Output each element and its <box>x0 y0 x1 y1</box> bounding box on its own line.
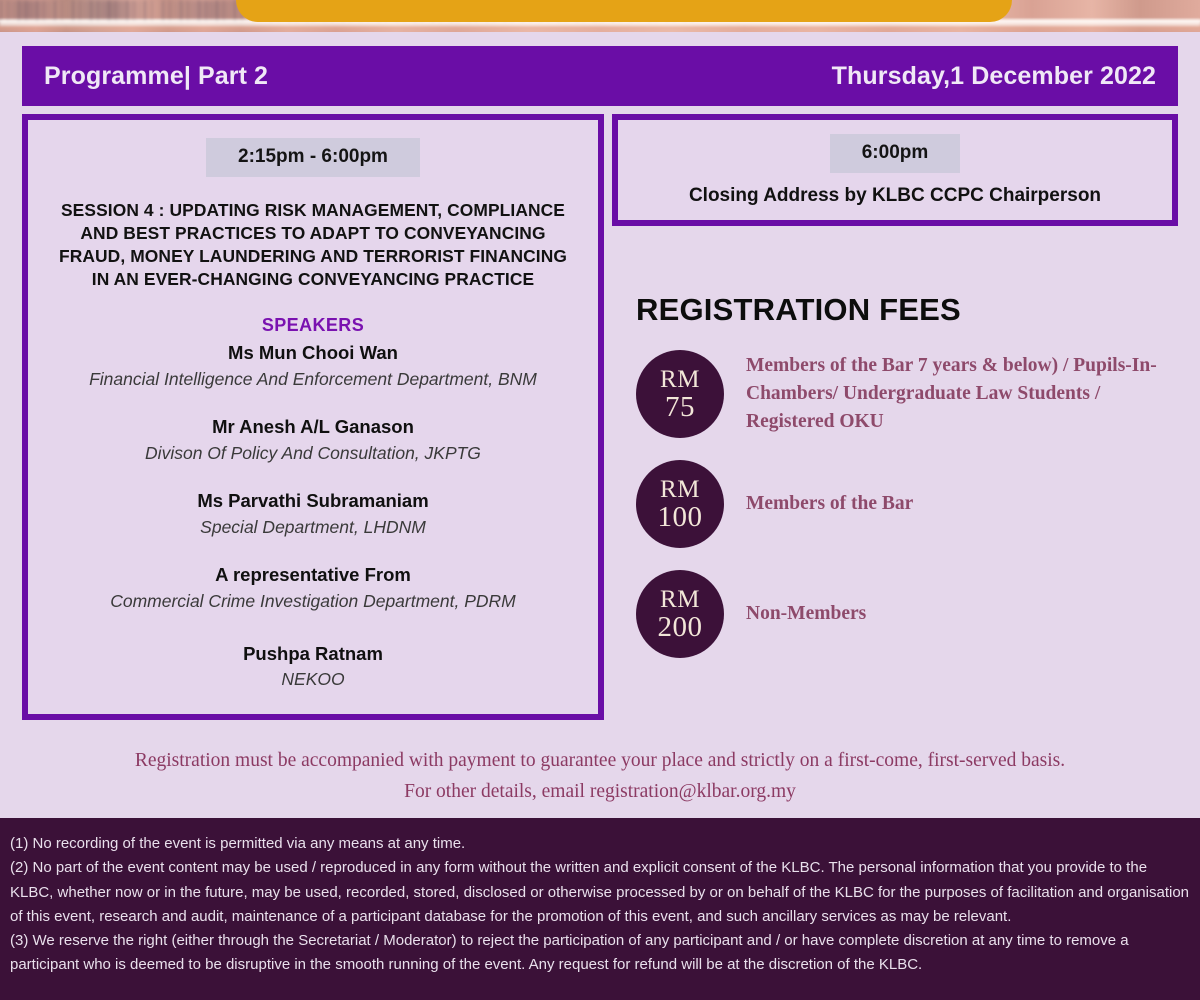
fee-currency: RM <box>660 477 700 502</box>
amber-rounded-shape <box>236 0 1012 22</box>
session-time-chip: 2:15pm - 6:00pm <box>206 138 420 177</box>
fee-currency: RM <box>660 367 700 392</box>
fee-value: 75 <box>665 393 695 422</box>
speaker-item: Ms Parvathi Subramaniam Special Departme… <box>46 488 580 540</box>
fee-value: 200 <box>658 613 703 642</box>
event-date: Thursday,1 December 2022 <box>832 62 1156 91</box>
speakers-label: SPEAKERS <box>46 315 580 336</box>
fee-currency: RM <box>660 587 700 612</box>
registration-note-line-2: For other details, email registration@kl… <box>0 776 1200 807</box>
fee-value: 100 <box>658 503 703 532</box>
closing-time-chip: 6:00pm <box>830 134 961 173</box>
fee-description: Members of the Bar <box>746 490 913 518</box>
speaker-item: Mr Anesh A/L Ganason Divison Of Policy A… <box>46 414 580 466</box>
speaker-name: A representative From <box>46 562 580 589</box>
session-title: SESSION 4 : UPDATING RISK MANAGEMENT, CO… <box>46 199 580 291</box>
speakers-list: Ms Mun Chooi Wan Financial Intelligence … <box>46 340 580 693</box>
closing-address-text: Closing Address by KLBC CCPC Chairperson <box>628 185 1162 207</box>
fee-row: RM 100 Members of the Bar <box>636 460 1176 548</box>
speaker-item: Pushpa Ratnam NEKOO <box>46 641 580 693</box>
programme-header-bar: Programme| Part 2 Thursday,1 December 20… <box>22 46 1178 106</box>
fee-amount-badge: RM 75 <box>636 350 724 438</box>
top-photo-banner <box>0 0 1200 32</box>
fee-description: Non-Members <box>746 600 866 628</box>
speaker-name: Ms Parvathi Subramaniam <box>46 488 580 515</box>
disclaimer-item: (1) No recording of the event is permitt… <box>10 832 1190 856</box>
session-panel: 2:15pm - 6:00pm SESSION 4 : UPDATING RIS… <box>22 114 604 720</box>
speaker-organisation: Commercial Crime Investigation Departmen… <box>46 589 580 614</box>
fee-description: Members of the Bar 7 years & below) / Pu… <box>746 352 1176 435</box>
speaker-organisation: Financial Intelligence And Enforcement D… <box>46 367 580 392</box>
registration-fees-heading: REGISTRATION FEES <box>636 292 1176 328</box>
fee-row: RM 75 Members of the Bar 7 years & below… <box>636 350 1176 438</box>
registration-note: Registration must be accompanied with pa… <box>0 745 1200 807</box>
disclaimer-band: (1) No recording of the event is permitt… <box>0 818 1200 1000</box>
disclaimer-item: (3) We reserve the right (either through… <box>10 929 1190 978</box>
fee-amount-badge: RM 200 <box>636 570 724 658</box>
speaker-organisation: Divison Of Policy And Consultation, JKPT… <box>46 441 580 466</box>
speaker-item: Ms Mun Chooi Wan Financial Intelligence … <box>46 340 580 392</box>
speaker-item: A representative From Commercial Crime I… <box>46 562 580 614</box>
speaker-name: Ms Mun Chooi Wan <box>46 340 580 367</box>
speaker-name: Mr Anesh A/L Ganason <box>46 414 580 441</box>
registration-note-line-1: Registration must be accompanied with pa… <box>0 745 1200 776</box>
disclaimer-item: (2) No part of the event content may be … <box>10 856 1190 929</box>
registration-fees-section: REGISTRATION FEES RM 75 Members of the B… <box>636 292 1176 658</box>
speaker-organisation: Special Department, LHDNM <box>46 515 580 540</box>
closing-address-panel: 6:00pm Closing Address by KLBC CCPC Chai… <box>612 114 1178 226</box>
fee-row: RM 200 Non-Members <box>636 570 1176 658</box>
speaker-name: Pushpa Ratnam <box>46 641 580 668</box>
page-title: Programme| Part 2 <box>44 62 268 91</box>
fee-amount-badge: RM 100 <box>636 460 724 548</box>
speaker-organisation: NEKOO <box>46 667 580 692</box>
